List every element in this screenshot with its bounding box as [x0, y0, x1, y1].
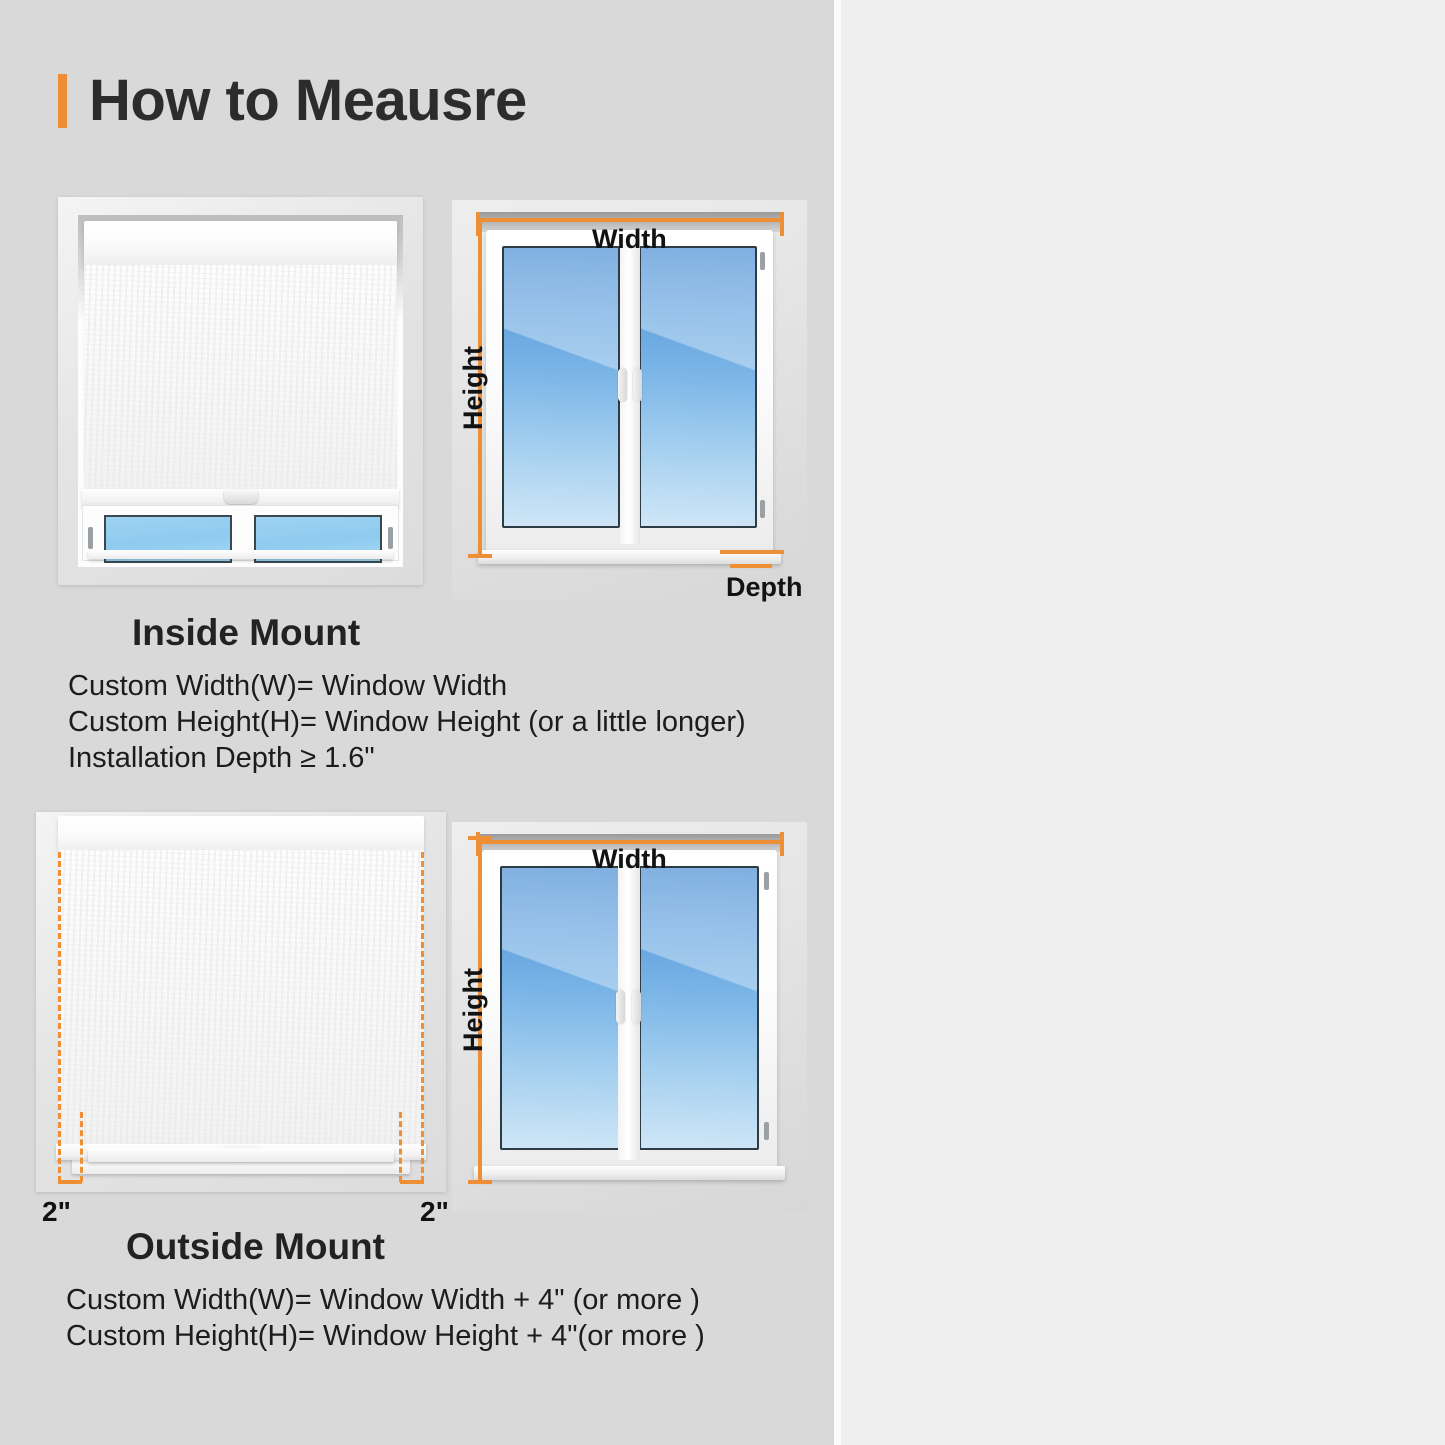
panel-divider [834, 0, 841, 1445]
sash-hinge-left [88, 527, 93, 549]
depth-label: Depth [726, 572, 803, 603]
how-to-measure-heading-text: How to Meausre [89, 72, 527, 130]
window-sill [88, 550, 393, 559]
shade-valance [84, 221, 397, 267]
width-measure-line [476, 218, 784, 222]
inside-mount-measure-diagram: Width Height Depth [452, 200, 807, 600]
frame-guide-left [80, 1112, 83, 1182]
window-pane-right [639, 246, 757, 528]
outside-mount-measure-diagram: Width Height [452, 822, 807, 1212]
package-contents-panel: What's in the package [841, 0, 1445, 1445]
overhang-arrow-right [400, 1180, 424, 1184]
outside-mount-title: Outside Mount [126, 1226, 385, 1268]
how-to-measure-heading: How to Meausre [58, 72, 527, 130]
inside-mount-line-1: Custom Width(W)= Window Width [68, 670, 507, 703]
infographic-page: How to Meausre [0, 0, 1445, 1445]
window-pane-right-outside [639, 866, 759, 1150]
inside-mount-title: Inside Mount [132, 612, 360, 654]
window-hinge-top-right-outside [764, 872, 769, 890]
sash-hinge-right [388, 527, 393, 549]
shade-pull-tab [224, 490, 258, 504]
shade-fabric-outside [58, 850, 424, 1150]
outside-mount-line-1: Custom Width(W)= Window Width + 4" (or m… [66, 1284, 700, 1317]
width-cap-right-outside [780, 832, 784, 856]
height-label-outside: Height [458, 968, 489, 1052]
depth-measure-line [720, 550, 784, 554]
frame-guide-right [399, 1112, 402, 1182]
overhang-guide-right [421, 852, 424, 1182]
window-hinge-bottom-right-outside [764, 1122, 769, 1140]
window-hinge-bottom-right [760, 500, 765, 518]
window-handle-right [633, 368, 642, 402]
depth-measure-line2 [730, 564, 772, 568]
outside-mount-line-2: Custom Height(H)= Window Height + 4"(or … [66, 1320, 705, 1353]
width-label-outside: Width [592, 844, 667, 875]
overhang-arrow-left [58, 1180, 82, 1184]
inside-mount-line-3: Installation Depth ≥ 1.6" [68, 742, 375, 775]
shade-fabric [84, 265, 397, 495]
window-hinge-top-right [760, 252, 765, 270]
overhang-left-label: 2" [42, 1196, 71, 1228]
how-to-measure-panel: How to Meausre [0, 0, 834, 1445]
height-cap-top-outside [468, 836, 492, 840]
window-pane-left-outside [500, 866, 620, 1150]
height-cap-bottom-outside [468, 1180, 492, 1184]
inside-mount-shade-illustration [58, 197, 423, 585]
inside-mount-line-2: Custom Height(H)= Window Height (or a li… [68, 706, 746, 739]
height-measure-cap-bottom [468, 554, 492, 558]
outside-mount-shade-illustration [36, 812, 446, 1192]
window-handle-left [618, 368, 627, 402]
window-handle-right-outside [632, 990, 641, 1024]
window-sill-ledge-outside [474, 1166, 785, 1180]
height-label: Height [458, 346, 489, 430]
overhang-guide-left [58, 852, 61, 1182]
window-handle-left-outside [616, 990, 625, 1024]
width-label: Width [592, 224, 667, 255]
overhang-right-label: 2" [420, 1196, 449, 1228]
width-measure-cap-right [780, 212, 784, 236]
accent-bar-icon [58, 74, 67, 128]
shade-valance-outside [58, 816, 424, 852]
window-pane-left [502, 246, 620, 528]
window-ledge-outside [88, 1148, 394, 1162]
